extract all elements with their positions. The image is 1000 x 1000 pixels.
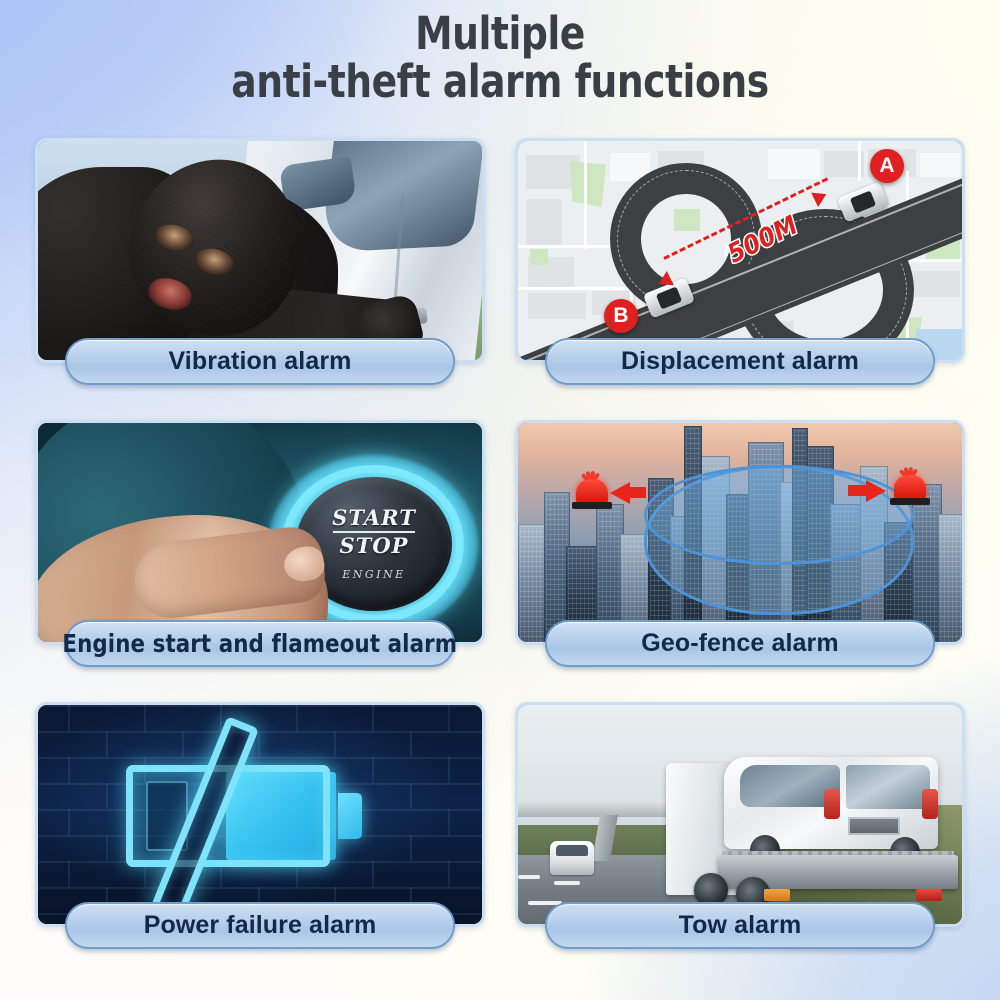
beacon-base: [890, 498, 930, 505]
towed-car-taillight-left: [824, 789, 840, 819]
start-label: START: [332, 507, 416, 528]
feature-card-vibration[interactable]: Vibration alarm: [35, 138, 485, 388]
towed-car-taillight-right: [922, 789, 938, 819]
feature-card-geofence[interactable]: Geo-fence alarm: [515, 420, 965, 670]
card-label-text-engine: Engine start and flameout alarm: [63, 629, 458, 658]
card-label-pill-displacement[interactable]: Displacement alarm: [545, 338, 935, 385]
geofence-arrow-shaft-left: [628, 487, 646, 498]
page-header: Multiple anti-theft alarm functions: [0, 10, 1000, 105]
map-illustration: A B 500M: [518, 141, 962, 360]
card-label-pill-power[interactable]: Power failure alarm: [65, 902, 455, 949]
geofence-arrow-shaft-right: [848, 485, 868, 496]
card-image-frame-displacement: A B 500M: [515, 138, 965, 363]
card-label-text-tow: Tow alarm: [679, 911, 802, 940]
tow-truck-marker-light-left: [764, 889, 790, 901]
feature-card-tow[interactable]: Tow alarm: [515, 702, 965, 952]
card-image-frame-engine: START STOP ENGINE: [35, 420, 485, 645]
stop-label: STOP: [340, 535, 409, 556]
road-lane-marking: [554, 881, 580, 885]
towed-car-license-plate: [848, 817, 900, 835]
road-lane-marking: [518, 875, 540, 879]
card-label-text-displacement: Displacement alarm: [621, 347, 859, 376]
geofence-arrow-head-right: [866, 480, 886, 502]
beacon-siren-left: [572, 471, 612, 511]
beacon-lamp: [576, 479, 608, 503]
power-failure-illustration: [38, 705, 482, 924]
engine-sub-label: ENGINE: [342, 568, 405, 581]
card-label-text-vibration: Vibration alarm: [168, 347, 351, 376]
engine-button-photo-illustration: START STOP ENGINE: [38, 423, 482, 642]
towed-car-rear-window: [846, 765, 930, 809]
card-label-text-power: Power failure alarm: [144, 911, 377, 940]
feature-card-grid: Vibration alarm: [35, 138, 965, 953]
card-label-pill-tow[interactable]: Tow alarm: [545, 902, 935, 949]
tow-truck-photo-illustration: [518, 705, 962, 924]
card-image-frame-vibration: [35, 138, 485, 363]
geofence-city-illustration: [518, 423, 962, 642]
page-title-line-2: anti-theft alarm functions: [35, 58, 965, 106]
page-title-line-1: Multiple: [35, 10, 965, 58]
beacon-lamp: [894, 475, 926, 499]
card-label-pill-vibration[interactable]: Vibration alarm: [65, 338, 455, 385]
map-marker-b[interactable]: B: [604, 299, 638, 333]
card-label-pill-geofence[interactable]: Geo-fence alarm: [545, 620, 935, 667]
map-marker-a-label: A: [879, 154, 894, 178]
map-marker-b-label: B: [613, 304, 628, 328]
feature-card-engine[interactable]: START STOP ENGINE Engine start and flame…: [35, 420, 485, 670]
feature-card-power[interactable]: Power failure alarm: [35, 702, 485, 952]
map-marker-a[interactable]: A: [870, 149, 904, 183]
feature-card-displacement[interactable]: A B 500M Displacement alarm: [515, 138, 965, 388]
thief-balaclava-head: [117, 147, 312, 347]
tow-truck-marker-light-right: [916, 889, 942, 901]
beacon-siren-right: [890, 467, 930, 507]
card-image-frame-geofence: [515, 420, 965, 645]
card-label-text-geofence: Geo-fence alarm: [641, 629, 838, 658]
battery-terminal-tip: [338, 793, 362, 839]
balaclava-knit-texture: [117, 147, 312, 347]
distant-car: [550, 841, 594, 875]
beacon-base: [572, 502, 612, 509]
geofence-arrow-head-left: [610, 482, 630, 504]
card-image-frame-power: [35, 702, 485, 927]
card-image-frame-tow: [515, 702, 965, 927]
thief-photo-illustration: [38, 141, 482, 360]
card-label-pill-engine[interactable]: Engine start and flameout alarm: [65, 620, 455, 667]
